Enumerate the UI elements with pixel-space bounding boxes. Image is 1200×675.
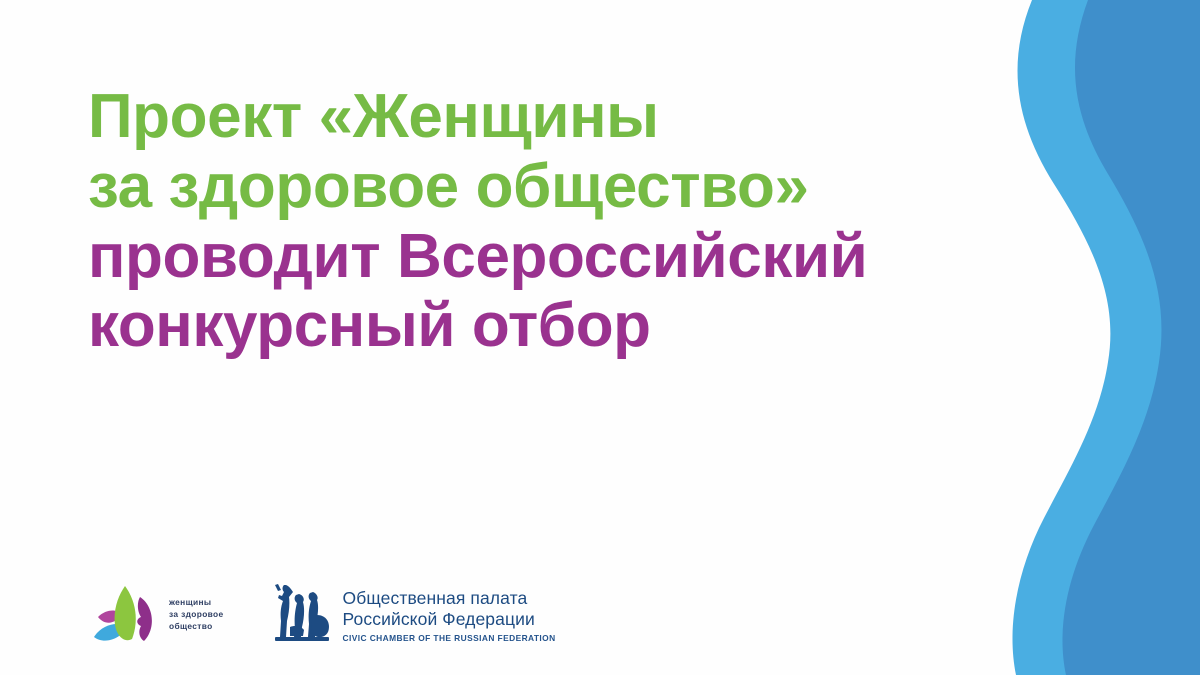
headline-line-4: конкурсный отбор xyxy=(88,291,1068,361)
logo-women-for-healthy-society: женщины за здоровое общество xyxy=(92,579,224,651)
women-logo-wordmark: женщины за здоровое общество xyxy=(169,597,224,633)
wave-dark-shape xyxy=(1058,0,1200,675)
headline-line-3: проводит Всероссийский xyxy=(88,222,1068,292)
civic-chamber-line-2: Российской Федерации xyxy=(343,609,556,630)
logo-bar: женщины за здоровое общество xyxy=(92,579,556,651)
leaf-flame-logo-icon xyxy=(92,579,164,651)
civic-chamber-line-3: CIVIC CHAMBER OF THE RUSSIAN FEDERATION xyxy=(343,633,556,643)
women-logo-word-2: за здоровое xyxy=(169,609,224,621)
slide-headline: Проект «Женщины за здоровое общество» пр… xyxy=(88,82,1068,361)
women-logo-word-1: женщины xyxy=(169,597,224,609)
civic-chamber-wordmark: Общественная палата Российской Федерации… xyxy=(343,588,556,643)
presentation-slide: Проект «Женщины за здоровое общество» пр… xyxy=(0,0,1200,675)
civic-chamber-statue-icon xyxy=(270,579,334,651)
headline-line-2: за здоровое общество» xyxy=(88,152,1068,222)
women-logo-word-3: общество xyxy=(169,621,224,633)
logo-civic-chamber: Общественная палата Российской Федерации… xyxy=(270,579,556,651)
civic-chamber-line-1: Общественная палата xyxy=(343,588,556,609)
headline-line-1: Проект «Женщины xyxy=(88,82,1068,152)
